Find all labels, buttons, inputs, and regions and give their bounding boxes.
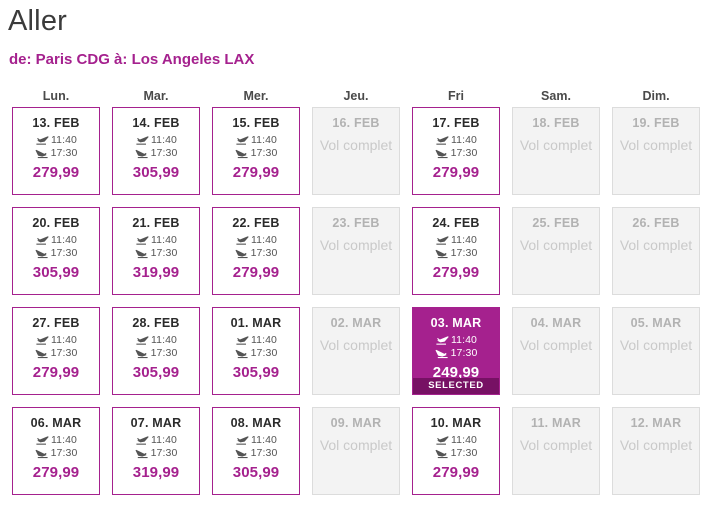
calendar-cell-slot: 21. FEB11:4017:30319,99 — [106, 207, 206, 307]
arrival-time-row: 17:30 — [213, 447, 299, 460]
fare-cell-selected[interactable]: 03. MAR11:4017:30249,99SELECTED — [412, 307, 500, 395]
calendar-cell-slot: 03. MAR11:4017:30249,99SELECTED — [406, 307, 506, 407]
fare-date: 13. FEB — [13, 116, 99, 130]
arrival-time-row: 17:30 — [413, 247, 499, 260]
day-of-week-header-row: Lun.Mar.Mer.Jeu.FriSam.Dim. — [6, 88, 706, 107]
calendar-cell-slot: 15. FEB11:4017:30279,99 — [206, 107, 306, 207]
fare-date: 28. FEB — [113, 316, 199, 330]
fare-cell-available[interactable]: 07. MAR11:4017:30319,99 — [112, 407, 200, 495]
calendar-cell-slot: 01. MAR11:4017:30305,99 — [206, 307, 306, 407]
plane-landing-icon — [135, 448, 149, 459]
fare-date: 19. FEB — [613, 116, 699, 130]
fare-date: 17. FEB — [413, 116, 499, 130]
calendar-cell-slot: 20. FEB11:4017:30305,99 — [6, 207, 106, 307]
plane-landing-icon — [135, 348, 149, 359]
calendar-cell-slot: 22. FEB11:4017:30279,99 — [206, 207, 306, 307]
plane-takeoff-icon — [435, 435, 449, 446]
fare-price: 279,99 — [13, 464, 99, 481]
calendar-cell-slot: 26. FEBVol complet — [606, 207, 706, 307]
fare-cell-available[interactable]: 15. FEB11:4017:30279,99 — [212, 107, 300, 195]
calendar-cell-slot: 06. MAR11:4017:30279,99 — [6, 407, 106, 507]
departure-time: 11:40 — [151, 334, 177, 347]
fare-cell-soldout: 16. FEBVol complet — [312, 107, 400, 195]
departure-time: 11:40 — [151, 434, 177, 447]
fare-cell-soldout: 04. MARVol complet — [512, 307, 600, 395]
plane-landing-icon — [35, 248, 49, 259]
calendar-cell-slot: 10. MAR11:4017:30279,99 — [406, 407, 506, 507]
fare-times: 11:4017:30 — [413, 134, 499, 160]
calendar-cell-slot: 11. MARVol complet — [506, 407, 606, 507]
fare-date: 04. MAR — [513, 316, 599, 330]
arrival-time: 17:30 — [251, 447, 278, 460]
day-of-week-header: Mar. — [106, 88, 206, 107]
fare-cell-soldout: 25. FEBVol complet — [512, 207, 600, 295]
fare-date: 07. MAR — [113, 416, 199, 430]
fare-date: 06. MAR — [13, 416, 99, 430]
plane-landing-icon — [135, 148, 149, 159]
departure-time-row: 11:40 — [213, 434, 299, 447]
route-summary: de: Paris CDG à: Los Angeles LAX — [9, 51, 254, 69]
plane-landing-icon — [35, 448, 49, 459]
plane-landing-icon — [435, 148, 449, 159]
fare-times: 11:4017:30 — [413, 334, 499, 360]
fare-price: 305,99 — [13, 264, 99, 281]
fare-date: 12. MAR — [613, 416, 699, 430]
fare-cell-available[interactable]: 28. FEB11:4017:30305,99 — [112, 307, 200, 395]
day-of-week-header: Jeu. — [306, 88, 406, 107]
fare-times: 11:4017:30 — [213, 334, 299, 360]
plane-takeoff-icon — [35, 435, 49, 446]
departure-time: 11:40 — [451, 134, 477, 147]
plane-landing-icon — [435, 248, 449, 259]
arrival-time-row: 17:30 — [113, 147, 199, 160]
calendar-cell-slot: 27. FEB11:4017:30279,99 — [6, 307, 106, 407]
calendar-cell-slot: 13. FEB11:4017:30279,99 — [6, 107, 106, 207]
arrival-time: 17:30 — [51, 247, 78, 260]
departure-time-row: 11:40 — [413, 434, 499, 447]
calendar-cell-slot: 18. FEBVol complet — [506, 107, 606, 207]
fare-date: 16. FEB — [313, 116, 399, 130]
day-of-week-header: Sam. — [506, 88, 606, 107]
calendar-cell-slot: 25. FEBVol complet — [506, 207, 606, 307]
departure-time: 11:40 — [151, 134, 177, 147]
fare-price: 279,99 — [13, 364, 99, 381]
plane-landing-icon — [235, 348, 249, 359]
plane-takeoff-icon — [135, 335, 149, 346]
arrival-time-row: 17:30 — [13, 347, 99, 360]
fare-date: 23. FEB — [313, 216, 399, 230]
calendar-cell-slot: 08. MAR11:4017:30305,99 — [206, 407, 306, 507]
calendar-cell-slot: 19. FEBVol complet — [606, 107, 706, 207]
departure-time-row: 11:40 — [213, 134, 299, 147]
fare-cell-available[interactable]: 10. MAR11:4017:30279,99 — [412, 407, 500, 495]
fare-date: 02. MAR — [313, 316, 399, 330]
arrival-time-row: 17:30 — [113, 247, 199, 260]
departure-time-row: 11:40 — [213, 334, 299, 347]
plane-landing-icon — [435, 448, 449, 459]
fare-date: 25. FEB — [513, 216, 599, 230]
calendar-cell-slot: 24. FEB11:4017:30279,99 — [406, 207, 506, 307]
plane-landing-icon — [235, 148, 249, 159]
plane-takeoff-icon — [235, 135, 249, 146]
soldout-label: Vol complet — [613, 336, 699, 354]
plane-landing-icon — [435, 348, 449, 359]
departure-time: 11:40 — [51, 334, 77, 347]
arrival-time-row: 17:30 — [413, 147, 499, 160]
fare-date: 03. MAR — [413, 316, 499, 330]
fare-times: 11:4017:30 — [413, 434, 499, 460]
calendar-week-row: 27. FEB11:4017:30279,9928. FEB11:4017:30… — [6, 307, 706, 407]
plane-takeoff-icon — [235, 335, 249, 346]
fare-cell-available[interactable]: 27. FEB11:4017:30279,99 — [12, 307, 100, 395]
departure-time-row: 11:40 — [413, 334, 499, 347]
fare-date: 15. FEB — [213, 116, 299, 130]
calendar-cell-slot: 28. FEB11:4017:30305,99 — [106, 307, 206, 407]
fare-date: 24. FEB — [413, 216, 499, 230]
plane-landing-icon — [35, 148, 49, 159]
day-of-week-header: Fri — [406, 88, 506, 107]
calendar-cell-slot: 14. FEB11:4017:30305,99 — [106, 107, 206, 207]
fare-cell-available[interactable]: 24. FEB11:4017:30279,99 — [412, 207, 500, 295]
fare-cell-soldout: 02. MARVol complet — [312, 307, 400, 395]
plane-takeoff-icon — [135, 435, 149, 446]
fare-times: 11:4017:30 — [113, 434, 199, 460]
plane-takeoff-icon — [435, 235, 449, 246]
soldout-label: Vol complet — [513, 236, 599, 254]
arrival-time: 17:30 — [451, 447, 478, 460]
fare-cell-available[interactable]: 20. FEB11:4017:30305,99 — [12, 207, 100, 295]
fare-date: 10. MAR — [413, 416, 499, 430]
fare-times: 11:4017:30 — [113, 234, 199, 260]
soldout-label: Vol complet — [313, 136, 399, 154]
calendar-cell-slot: 17. FEB11:4017:30279,99 — [406, 107, 506, 207]
fare-date: 18. FEB — [513, 116, 599, 130]
fare-times: 11:4017:30 — [213, 434, 299, 460]
departure-time: 11:40 — [151, 234, 177, 247]
fare-calendar: Lun.Mar.Mer.Jeu.FriSam.Dim. 13. FEB11:40… — [6, 88, 706, 507]
fare-price: 319,99 — [113, 264, 199, 281]
fare-date: 26. FEB — [613, 216, 699, 230]
arrival-time: 17:30 — [51, 447, 78, 460]
plane-takeoff-icon — [135, 235, 149, 246]
fare-price: 305,99 — [113, 164, 199, 181]
soldout-label: Vol complet — [513, 336, 599, 354]
departure-time-row: 11:40 — [113, 434, 199, 447]
calendar-week-row: 06. MAR11:4017:30279,9907. MAR11:4017:30… — [6, 407, 706, 507]
plane-takeoff-icon — [35, 135, 49, 146]
fare-date: 27. FEB — [13, 316, 99, 330]
fare-cell-available[interactable]: 08. MAR11:4017:30305,99 — [212, 407, 300, 495]
fare-price: 305,99 — [213, 364, 299, 381]
soldout-label: Vol complet — [313, 236, 399, 254]
plane-takeoff-icon — [135, 135, 149, 146]
arrival-time-row: 17:30 — [413, 447, 499, 460]
calendar-cell-slot: 05. MARVol complet — [606, 307, 706, 407]
arrival-time: 17:30 — [151, 247, 178, 260]
departure-time-row: 11:40 — [113, 334, 199, 347]
fare-date: 22. FEB — [213, 216, 299, 230]
fare-date: 05. MAR — [613, 316, 699, 330]
arrival-time-row: 17:30 — [113, 447, 199, 460]
calendar-cell-slot: 07. MAR11:4017:30319,99 — [106, 407, 206, 507]
fare-times: 11:4017:30 — [13, 234, 99, 260]
arrival-time-row: 17:30 — [13, 247, 99, 260]
fare-price: 279,99 — [213, 164, 299, 181]
arrival-time: 17:30 — [51, 147, 78, 160]
departure-time: 11:40 — [251, 334, 277, 347]
departure-time-row: 11:40 — [413, 234, 499, 247]
fare-times: 11:4017:30 — [413, 234, 499, 260]
fare-times: 11:4017:30 — [113, 134, 199, 160]
fare-cell-soldout: 19. FEBVol complet — [612, 107, 700, 195]
fare-price: 319,99 — [113, 464, 199, 481]
arrival-time: 17:30 — [151, 347, 178, 360]
day-of-week-header: Dim. — [606, 88, 706, 107]
fare-times: 11:4017:30 — [213, 134, 299, 160]
fare-price: 279,99 — [413, 164, 499, 181]
soldout-label: Vol complet — [313, 436, 399, 454]
plane-takeoff-icon — [235, 435, 249, 446]
arrival-time-row: 17:30 — [213, 147, 299, 160]
fare-date: 01. MAR — [213, 316, 299, 330]
departure-time-row: 11:40 — [213, 234, 299, 247]
fare-price: 279,99 — [13, 164, 99, 181]
soldout-label: Vol complet — [313, 336, 399, 354]
fare-times: 11:4017:30 — [13, 434, 99, 460]
calendar-cell-slot: 04. MARVol complet — [506, 307, 606, 407]
departure-time: 11:40 — [451, 334, 477, 347]
departure-time: 11:40 — [51, 134, 77, 147]
fare-date: 20. FEB — [13, 216, 99, 230]
fare-times: 11:4017:30 — [13, 334, 99, 360]
day-of-week-header: Lun. — [6, 88, 106, 107]
arrival-time-row: 17:30 — [213, 347, 299, 360]
page-title: Aller — [8, 2, 67, 40]
departure-time-row: 11:40 — [413, 134, 499, 147]
arrival-time: 17:30 — [151, 147, 178, 160]
fare-cell-soldout: 23. FEBVol complet — [312, 207, 400, 295]
fare-times: 11:4017:30 — [13, 134, 99, 160]
fare-cell-available[interactable]: 06. MAR11:4017:30279,99 — [12, 407, 100, 495]
fare-cell-soldout: 12. MARVol complet — [612, 407, 700, 495]
arrival-time: 17:30 — [451, 247, 478, 260]
route-to-label: à: — [114, 51, 127, 68]
departure-time: 11:40 — [51, 234, 77, 247]
calendar-cell-slot: 02. MARVol complet — [306, 307, 406, 407]
departure-time-row: 11:40 — [113, 134, 199, 147]
day-of-week-header: Mer. — [206, 88, 306, 107]
plane-takeoff-icon — [435, 135, 449, 146]
route-from-label: de: — [9, 51, 32, 68]
fare-cell-soldout: 05. MARVol complet — [612, 307, 700, 395]
fare-price: 279,99 — [413, 464, 499, 481]
departure-time-row: 11:40 — [113, 234, 199, 247]
fare-cell-available[interactable]: 17. FEB11:4017:30279,99 — [412, 107, 500, 195]
arrival-time: 17:30 — [451, 347, 478, 360]
arrival-time: 17:30 — [151, 447, 178, 460]
departure-time: 11:40 — [51, 434, 77, 447]
soldout-label: Vol complet — [613, 236, 699, 254]
soldout-label: Vol complet — [613, 136, 699, 154]
route-from: Paris CDG — [36, 51, 110, 68]
arrival-time-row: 17:30 — [13, 447, 99, 460]
arrival-time: 17:30 — [251, 247, 278, 260]
fare-date: 11. MAR — [513, 416, 599, 430]
plane-takeoff-icon — [35, 235, 49, 246]
fare-price: 305,99 — [113, 364, 199, 381]
fare-cell-available[interactable]: 21. FEB11:4017:30319,99 — [112, 207, 200, 295]
arrival-time: 17:30 — [251, 147, 278, 160]
fare-cell-available[interactable]: 13. FEB11:4017:30279,99 — [12, 107, 100, 195]
departure-time-row: 11:40 — [13, 334, 99, 347]
calendar-cell-slot: 23. FEBVol complet — [306, 207, 406, 307]
arrival-time-row: 17:30 — [413, 347, 499, 360]
plane-landing-icon — [235, 248, 249, 259]
route-to: Los Angeles LAX — [132, 51, 255, 68]
arrival-time-row: 17:30 — [13, 147, 99, 160]
arrival-time-row: 17:30 — [213, 247, 299, 260]
fare-cell-soldout: 18. FEBVol complet — [512, 107, 600, 195]
departure-time: 11:40 — [451, 434, 477, 447]
fare-date: 09. MAR — [313, 416, 399, 430]
plane-landing-icon — [135, 248, 149, 259]
plane-landing-icon — [35, 348, 49, 359]
fare-date: 14. FEB — [113, 116, 199, 130]
plane-takeoff-icon — [35, 335, 49, 346]
departure-time: 11:40 — [251, 134, 277, 147]
calendar-weeks: 13. FEB11:4017:30279,9914. FEB11:4017:30… — [6, 107, 706, 507]
arrival-time: 17:30 — [51, 347, 78, 360]
soldout-label: Vol complet — [513, 436, 599, 454]
fare-cell-available[interactable]: 14. FEB11:4017:30305,99 — [112, 107, 200, 195]
arrival-time: 17:30 — [251, 347, 278, 360]
plane-takeoff-icon — [235, 235, 249, 246]
fare-cell-available[interactable]: 01. MAR11:4017:30305,99 — [212, 307, 300, 395]
fare-cell-available[interactable]: 22. FEB11:4017:30279,99 — [212, 207, 300, 295]
plane-takeoff-icon — [435, 335, 449, 346]
fare-price: 279,99 — [213, 264, 299, 281]
departure-time: 11:40 — [251, 234, 277, 247]
calendar-cell-slot: 16. FEBVol complet — [306, 107, 406, 207]
fare-date: 21. FEB — [113, 216, 199, 230]
departure-time-row: 11:40 — [13, 234, 99, 247]
calendar-cell-slot: 12. MARVol complet — [606, 407, 706, 507]
soldout-label: Vol complet — [513, 136, 599, 154]
departure-time-row: 11:40 — [13, 434, 99, 447]
arrival-time: 17:30 — [451, 147, 478, 160]
calendar-week-row: 13. FEB11:4017:30279,9914. FEB11:4017:30… — [6, 107, 706, 207]
soldout-label: Vol complet — [613, 436, 699, 454]
fare-cell-soldout: 11. MARVol complet — [512, 407, 600, 495]
fare-price: 305,99 — [213, 464, 299, 481]
fare-times: 11:4017:30 — [113, 334, 199, 360]
departure-time: 11:40 — [451, 234, 477, 247]
fare-cell-soldout: 09. MARVol complet — [312, 407, 400, 495]
departure-time-row: 11:40 — [13, 134, 99, 147]
fare-price: 279,99 — [413, 264, 499, 281]
fare-cell-soldout: 26. FEBVol complet — [612, 207, 700, 295]
plane-landing-icon — [235, 448, 249, 459]
selected-badge: SELECTED — [413, 378, 499, 394]
departure-time: 11:40 — [251, 434, 277, 447]
fare-times: 11:4017:30 — [213, 234, 299, 260]
arrival-time-row: 17:30 — [113, 347, 199, 360]
fare-date: 08. MAR — [213, 416, 299, 430]
calendar-cell-slot: 09. MARVol complet — [306, 407, 406, 507]
calendar-week-row: 20. FEB11:4017:30305,9921. FEB11:4017:30… — [6, 207, 706, 307]
